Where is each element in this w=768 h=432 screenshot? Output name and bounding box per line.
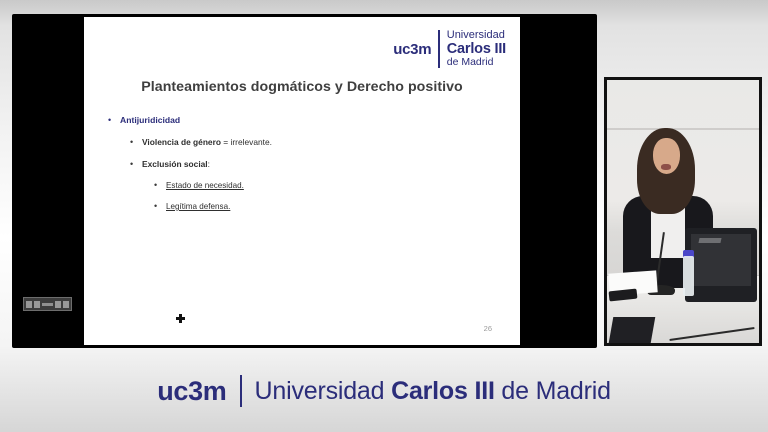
bullet-plain-part: = irrelevante. (221, 137, 272, 147)
video-frame[interactable]: uc3m Universidad Carlos III de Madrid Pl… (12, 14, 597, 348)
bullet-item-legitima-defensa: • Legítima defensa. (154, 202, 502, 211)
stop-icon[interactable] (34, 301, 40, 308)
slide-title: Planteamientos dogmáticos y Derecho posi… (84, 79, 520, 95)
speaker-webcam-panel[interactable] (604, 77, 762, 346)
bullet-dot-icon: • (108, 116, 120, 125)
banner-word-madrid: de Madrid (495, 377, 611, 405)
banner-word-universidad: Universidad (255, 377, 392, 405)
bullet-bold-part: Antijuridicidad (120, 115, 180, 125)
fullscreen-icon[interactable] (63, 301, 69, 308)
bullet-dot-icon: • (154, 181, 166, 190)
slide-logo-words: Universidad Carlos III de Madrid (447, 30, 506, 68)
bullet-item-estado-de-necesidad: • Estado de necesidad. (154, 181, 502, 190)
bullet-bold-part: Violencia de género (142, 137, 221, 147)
bullet-plain-part: : (208, 159, 210, 169)
bullet-text: Antijuridicidad (120, 115, 180, 125)
slide-logo-line-madrid: de Madrid (447, 57, 506, 68)
banner-uc3m-logo: uc3m Universidad Carlos III de Madrid (157, 375, 611, 407)
water-bottle (683, 256, 694, 296)
laptop-object (609, 317, 656, 343)
slide-bullet-list: • Antijuridicidad • Violencia de género … (108, 115, 502, 223)
crosshair-cursor-icon (176, 314, 185, 323)
bullet-dot-icon: • (154, 202, 166, 211)
lecture-player-stage: uc3m Universidad Carlos III de Madrid Pl… (0, 0, 768, 350)
slide-logo-mark: uc3m (393, 42, 431, 57)
play-icon[interactable] (26, 301, 32, 308)
presentation-slide: uc3m Universidad Carlos III de Madrid Pl… (84, 17, 520, 345)
slide-page-number: 26 (484, 324, 492, 333)
slide-logo-divider (438, 30, 440, 68)
progress-track[interactable] (42, 303, 53, 306)
banner-word-carlos: Carlos III (391, 377, 495, 405)
bullet-text: Exclusión social: (142, 159, 210, 169)
bullet-text: Estado de necesidad. (166, 181, 244, 190)
slide-logo-line-carlos: Carlos III (447, 42, 506, 57)
volume-icon[interactable] (55, 301, 61, 308)
bullet-dot-icon: • (130, 138, 142, 147)
bullet-text: Violencia de género = irrelevante. (142, 137, 272, 147)
wall-seam (607, 128, 759, 130)
speaker-mouth (661, 164, 671, 170)
slide-uc3m-logo: uc3m Universidad Carlos III de Madrid (393, 30, 506, 68)
bottom-banner: uc3m Universidad Carlos III de Madrid (0, 350, 768, 432)
banner-logo-mark: uc3m (157, 378, 226, 405)
monitor-brand-mark (698, 238, 721, 243)
video-control-bar[interactable] (23, 297, 72, 311)
webcam-scene (607, 80, 759, 343)
slide-logo-line-universidad: Universidad (447, 30, 506, 42)
bullet-text: Legítima defensa. (166, 202, 230, 211)
bullet-item-exclusion-social: • Exclusión social: (130, 159, 502, 169)
banner-logo-divider (240, 375, 242, 407)
bullet-item-violencia-de-genero: • Violencia de género = irrelevante. (130, 137, 502, 147)
bullet-item-antijuridicidad: • Antijuridicidad (108, 115, 502, 125)
bullet-dot-icon: • (130, 160, 142, 169)
bullet-bold-part: Exclusión social (142, 159, 208, 169)
banner-logo-words: Universidad Carlos III de Madrid (255, 378, 611, 405)
